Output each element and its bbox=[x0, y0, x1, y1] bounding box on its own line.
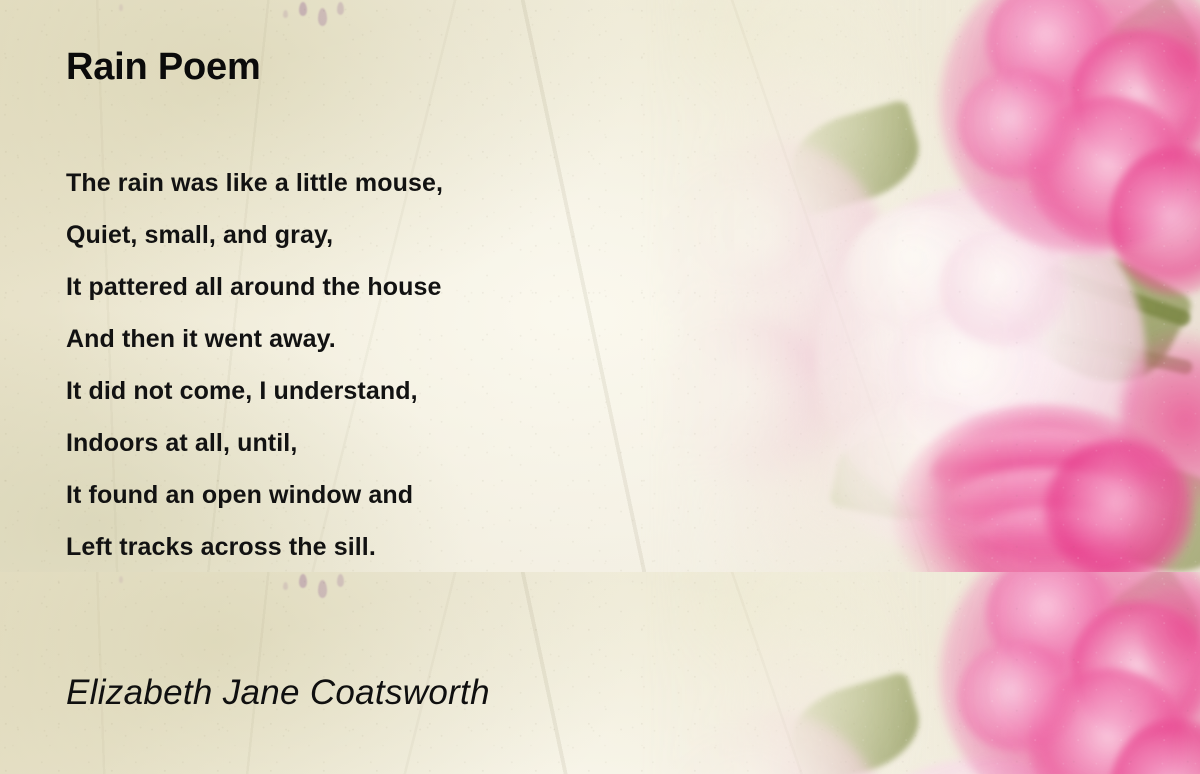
poem-poster: Rain Poem The rain was like a little mou… bbox=[0, 0, 1200, 774]
page-title: Rain Poem bbox=[66, 46, 261, 89]
poem-line: It pattered all around the house bbox=[66, 261, 766, 313]
poem-body: The rain was like a little mouse, Quiet,… bbox=[66, 157, 766, 573]
poem-author: Elizabeth Jane Coatsworth bbox=[66, 673, 490, 713]
poem-line: It did not come, I understand, bbox=[66, 365, 766, 417]
poem-line: And then it went away. bbox=[66, 313, 766, 365]
poem-line: Quiet, small, and gray, bbox=[66, 209, 766, 261]
poem-content: Rain Poem The rain was like a little mou… bbox=[0, 0, 1200, 774]
poem-line: Left tracks across the sill. bbox=[66, 521, 766, 573]
poem-line: The rain was like a little mouse, bbox=[66, 157, 766, 209]
poem-line: It found an open window and bbox=[66, 469, 766, 521]
poem-line: Indoors at all, until, bbox=[66, 417, 766, 469]
